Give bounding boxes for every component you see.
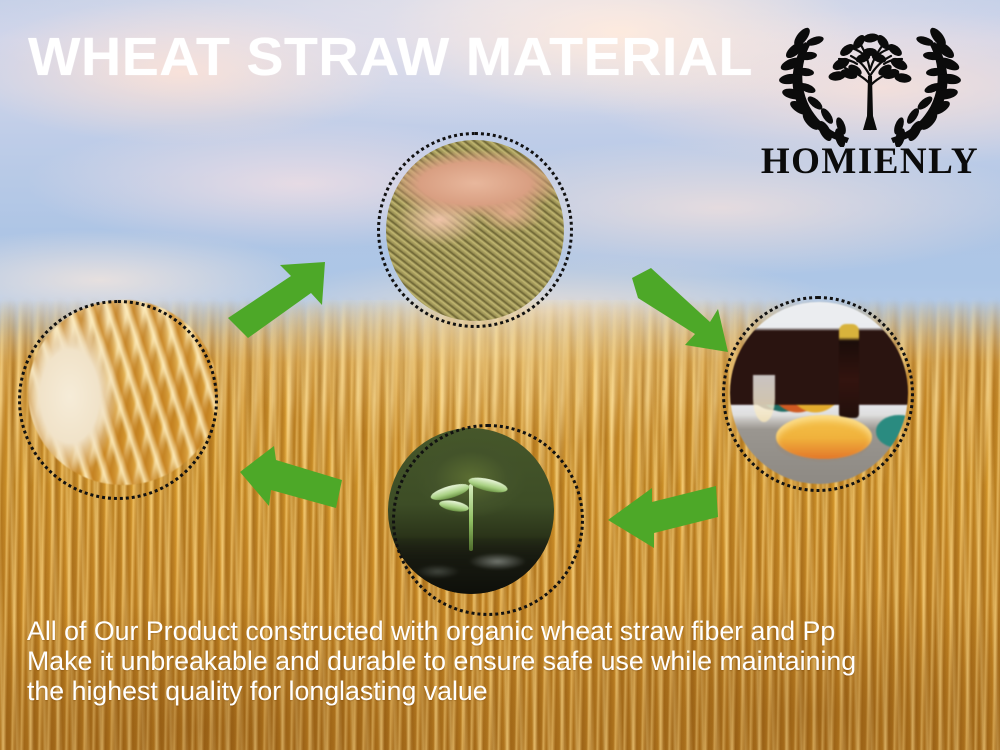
cycle-node-tableware	[722, 296, 914, 492]
dotted-ring-regrowth	[392, 424, 584, 616]
arrow-field-to-harvest-icon	[228, 262, 336, 344]
cycle-node-regrowth	[392, 424, 584, 616]
arrow-sprout-to-field-icon	[240, 446, 348, 518]
wheat-straw-material-poster: WHEAT STRAW MATERIAL	[0, 0, 1000, 750]
dotted-ring-harvest	[377, 132, 573, 328]
footer-line-1: All of Our Product constructed with orga…	[27, 616, 977, 646]
arrow-product-to-sprout-icon	[608, 486, 718, 552]
footer-line-2: Make it unbreakable and durable to ensur…	[27, 646, 977, 676]
brand-name: HOMIENLY	[761, 143, 979, 180]
cycle-node-harvest	[377, 132, 573, 328]
footer-description: All of Our Product constructed with orga…	[27, 616, 977, 706]
dotted-ring-tableware	[722, 296, 914, 492]
brand-logo: HOMIENLY	[746, 12, 994, 194]
dotted-ring-wheat-field	[18, 300, 218, 500]
arrow-harvest-to-product-icon	[632, 268, 734, 354]
cycle-node-wheat-field	[18, 300, 218, 500]
tree-in-laurel-wreath-icon	[775, 12, 965, 147]
footer-line-3: the highest quality for longlasting valu…	[27, 676, 977, 706]
page-title: WHEAT STRAW MATERIAL	[28, 30, 753, 84]
